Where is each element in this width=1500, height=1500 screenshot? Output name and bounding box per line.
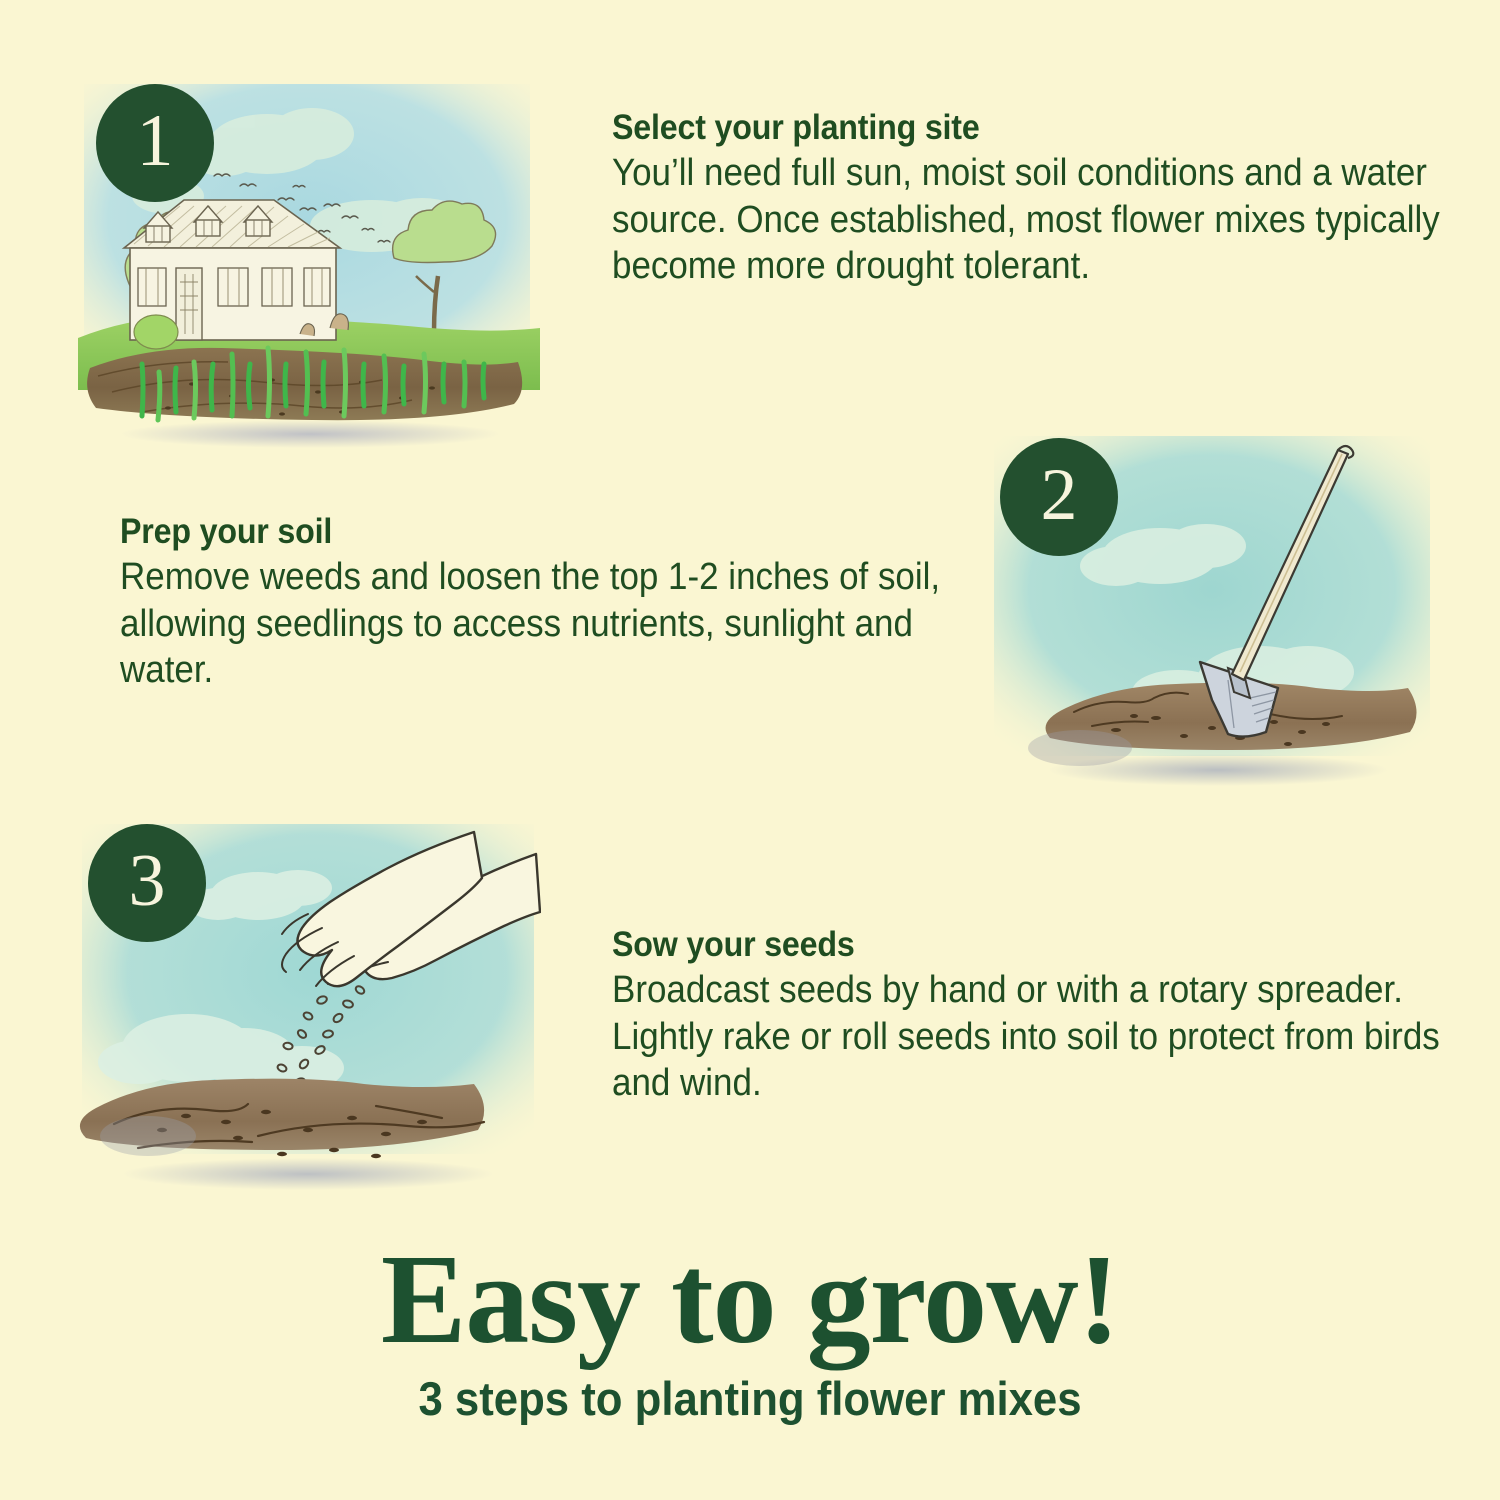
step-number-2: 2 [1041, 458, 1078, 532]
step-number-3: 3 [129, 844, 166, 918]
step-number-1: 1 [137, 104, 174, 178]
step-3-heading: Sow your seeds [612, 925, 1486, 965]
footer: Easy to grow! 3 steps to planting flower… [0, 1235, 1500, 1425]
infographic-page: 1 2 3 Select your planting site You’ll n… [0, 0, 1500, 1500]
step-2-text-block: Prep your soil Remove weeds and loosen t… [120, 512, 1020, 694]
step-badge-2: 2 [1000, 438, 1118, 556]
step-1-text-block: Select your planting site You’ll need fu… [612, 108, 1500, 290]
step-3-body: Broadcast seeds by hand or with a rotary… [612, 967, 1486, 1107]
footer-title: Easy to grow! [0, 1235, 1500, 1363]
step-badge-3: 3 [88, 824, 206, 942]
footer-subtitle: 3 steps to planting flower mixes [53, 1373, 1448, 1425]
step-2-heading: Prep your soil [120, 512, 948, 552]
step-badge-1: 1 [96, 84, 214, 202]
step-2-body: Remove weeds and loosen the top 1-2 inch… [120, 554, 948, 694]
step-1-body: You’ll need full sun, moist soil conditi… [612, 150, 1486, 290]
step-1-heading: Select your planting site [612, 108, 1486, 148]
step-3-text-block: Sow your seeds Broadcast seeds by hand o… [612, 925, 1500, 1107]
